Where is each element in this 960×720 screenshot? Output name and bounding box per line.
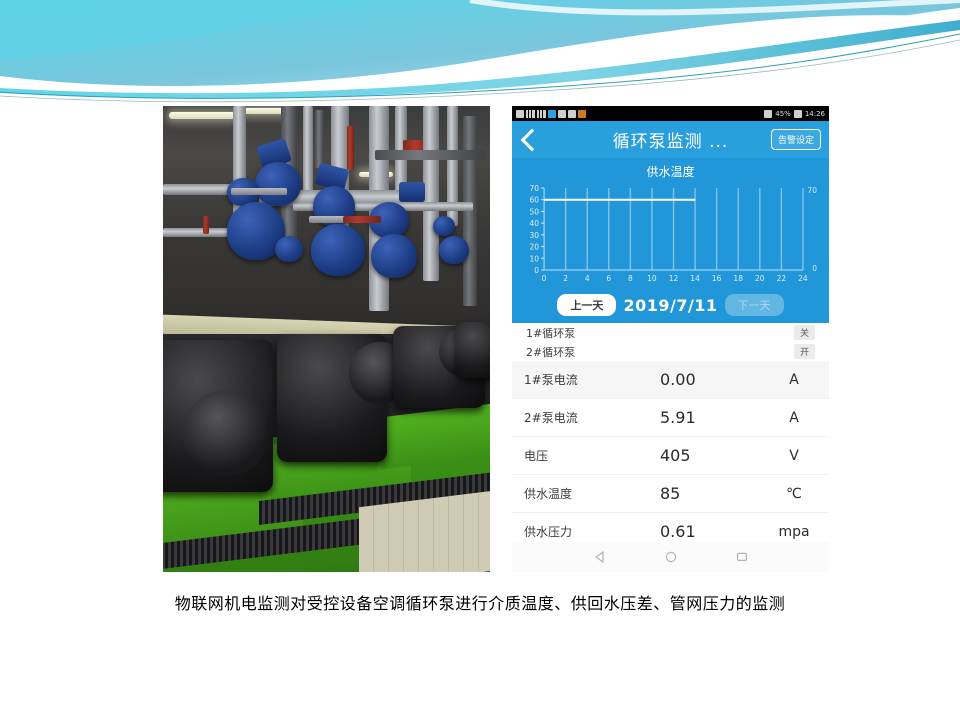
app-icon	[578, 110, 586, 118]
measurement-label: 1#泵电流	[524, 371, 636, 388]
svg-text:30: 30	[530, 231, 540, 240]
slide-caption: 物联网机电监测对受控设备空调循环泵进行介质温度、供回水压差、管网压力的监测	[0, 590, 960, 614]
chart-plot-area: 010203040506070024681012141618202224700	[520, 182, 821, 290]
measurement-block: 1#泵电流0.00A2#泵电流5.91A电压405V供水温度85℃供水压力0.6…	[512, 361, 829, 551]
measurement-unit: mpa	[771, 524, 817, 540]
android-nav-bar	[512, 542, 829, 572]
back-triangle-icon[interactable]	[594, 548, 606, 567]
clock-text: 14:26	[805, 110, 825, 118]
svg-text:10: 10	[530, 254, 540, 263]
measurement-row: 供水温度85℃	[512, 475, 829, 513]
svg-text:18: 18	[733, 274, 743, 283]
next-day-button[interactable]: 下一天	[725, 294, 784, 316]
svg-text:16: 16	[712, 274, 722, 283]
status-badge: 关	[794, 325, 815, 340]
cell-bars-icon	[526, 110, 535, 118]
measurement-unit: A	[771, 372, 817, 388]
svg-text:20: 20	[755, 274, 765, 283]
svg-text:22: 22	[777, 274, 787, 283]
phone-status-bar: 45% 14:26	[512, 106, 829, 121]
svg-text:12: 12	[669, 274, 679, 283]
svg-text:70: 70	[807, 186, 817, 195]
measurement-value: 0.61	[636, 522, 771, 541]
svg-text:0: 0	[812, 264, 817, 273]
measurement-value: 0.00	[636, 370, 771, 389]
measurement-label: 2#泵电流	[524, 409, 636, 426]
pump-status-row: 2#循环泵开	[512, 342, 829, 361]
machine-room-photo	[163, 106, 490, 572]
svg-text:70: 70	[530, 184, 540, 193]
temperature-chart[interactable]: 010203040506070024681012141618202224700	[520, 182, 821, 290]
svg-text:20: 20	[530, 243, 540, 252]
svg-text:0: 0	[542, 274, 547, 283]
wifi-icon	[548, 110, 556, 118]
svg-text:8: 8	[628, 274, 633, 283]
chart-card: 供水温度 01020304050607002468101214161820222…	[512, 158, 829, 323]
bluetooth-icon	[558, 110, 566, 118]
signal-icon	[516, 110, 524, 118]
cell-bars2-icon	[537, 110, 546, 118]
svg-text:50: 50	[530, 207, 540, 216]
alarm-icon	[764, 110, 772, 118]
photo-upper-pipes	[163, 106, 490, 334]
battery-icon	[794, 110, 802, 118]
recents-square-icon[interactable]	[736, 548, 748, 567]
measurement-list: 1#循环泵关2#循环泵开 1#泵电流0.00A2#泵电流5.91A电压405V供…	[512, 323, 829, 551]
measurement-value: 405	[636, 446, 771, 465]
status-badge: 开	[794, 344, 815, 359]
back-chevron-icon[interactable]	[521, 128, 544, 151]
svg-text:40: 40	[530, 219, 540, 228]
svg-text:0: 0	[534, 266, 539, 275]
slide-decoration-header	[0, 0, 960, 105]
measurement-row: 1#泵电流0.00A	[512, 361, 829, 399]
svg-text:14: 14	[690, 274, 700, 283]
current-date-label: 2019/7/11	[623, 296, 717, 315]
prev-day-button[interactable]: 上一天	[557, 294, 616, 316]
svg-text:2: 2	[563, 274, 568, 283]
measurement-row: 2#泵电流5.91A	[512, 399, 829, 437]
measurement-unit: ℃	[771, 486, 817, 502]
measurement-row: 电压405V	[512, 437, 829, 475]
svg-text:4: 4	[585, 274, 590, 283]
alarm-settings-button[interactable]: 告警设定	[771, 129, 821, 150]
measurement-value: 85	[636, 484, 771, 503]
battery-percent: 45%	[775, 110, 791, 118]
phone-app-screenshot: 45% 14:26 循环泵监测 ... 告警设定 供水温度 0102030405…	[512, 106, 829, 572]
chart-title: 供水温度	[512, 160, 829, 182]
measurement-label: 电压	[524, 447, 636, 464]
photo-lower-pumps	[163, 334, 490, 572]
pump-status-label: 1#循环泵	[526, 325, 794, 341]
svg-text:60: 60	[530, 196, 540, 205]
pump-status-row: 1#循环泵关	[512, 323, 829, 342]
pump-status-block: 1#循环泵关2#循环泵开	[512, 323, 829, 361]
svg-text:6: 6	[606, 274, 611, 283]
measurement-unit: A	[771, 410, 817, 426]
measurement-label: 供水温度	[524, 485, 636, 502]
svg-text:24: 24	[798, 274, 808, 283]
pump-status-label: 2#循环泵	[526, 344, 794, 360]
measurement-value: 5.91	[636, 408, 771, 427]
home-circle-icon[interactable]	[665, 548, 677, 567]
day-navigation: 上一天 2019/7/11 下一天	[512, 294, 829, 316]
measurement-label: 供水压力	[524, 523, 636, 540]
measurement-unit: V	[771, 448, 817, 464]
app-title-bar: 循环泵监测 ... 告警设定	[512, 121, 829, 158]
message-icon	[568, 110, 576, 118]
svg-text:10: 10	[647, 274, 657, 283]
